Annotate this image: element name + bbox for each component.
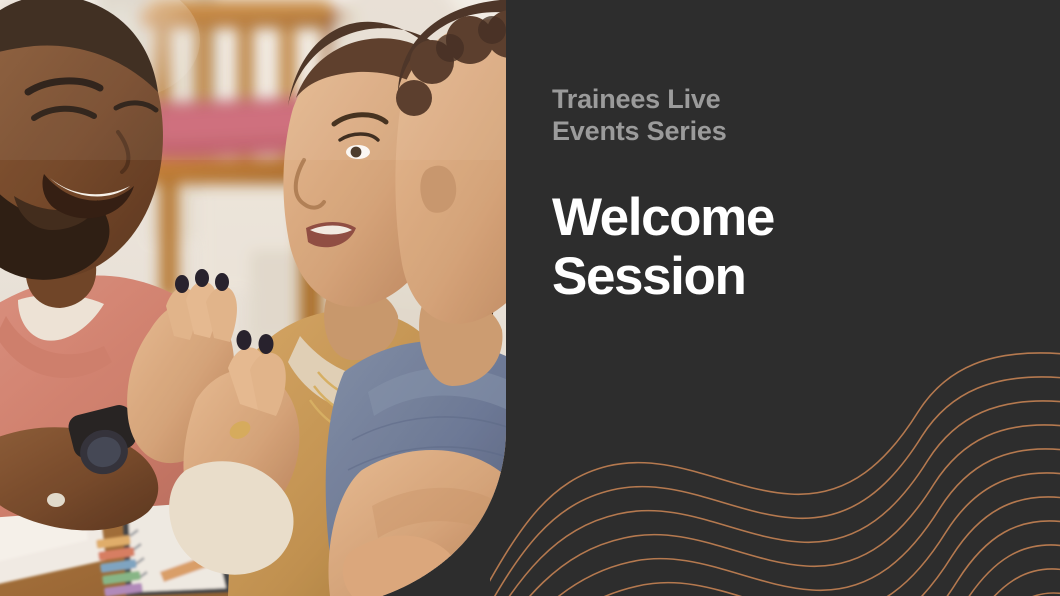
series-eyebrow-text: Trainees Live Events Series <box>552 84 992 147</box>
slide-canvas: Trainees Live Events Series Welcome Sess… <box>0 0 1060 596</box>
slide-text-block: Trainees Live Events Series Welcome Sess… <box>552 84 992 307</box>
hero-photo <box>0 0 510 596</box>
slide-headline: Welcome Session <box>552 189 992 307</box>
